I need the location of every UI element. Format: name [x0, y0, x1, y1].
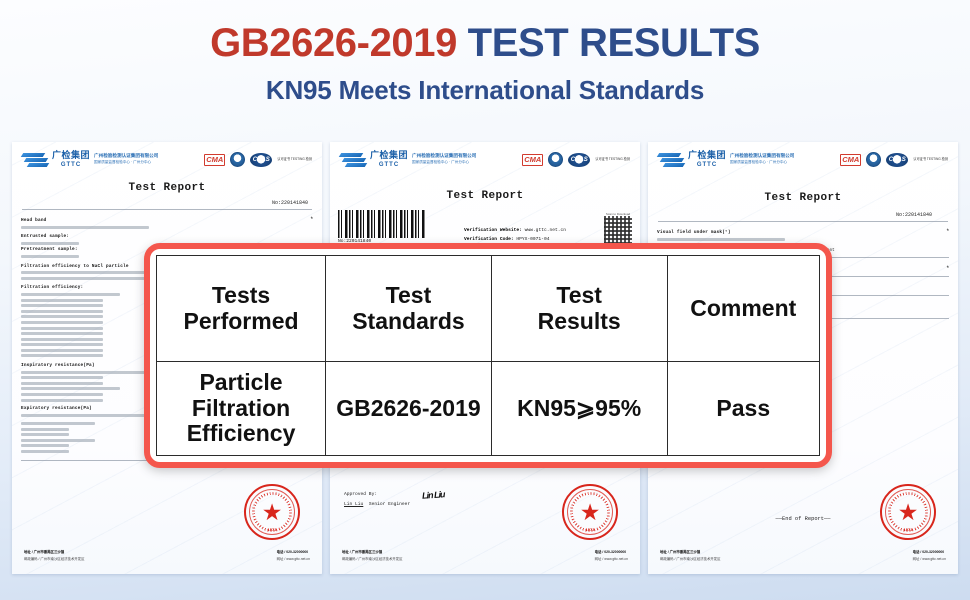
badge-note: 认可证书 TESTING 检测 — [595, 157, 630, 162]
cnas-badge-icon: CNAS — [886, 153, 908, 167]
footer-address-2: 邮政编码 / 广州市南沙区经济技术开发区 — [660, 556, 720, 562]
stamp-code: 1573 — [564, 527, 616, 532]
col-header-test-results: Test Results — [491, 256, 667, 362]
cal-badge-icon — [230, 152, 245, 167]
doc-footer-left: 地址 / 广州市番禺区三沙镇 邮政编码 / 广州市南沙区经济技术开发区 电话 /… — [24, 549, 310, 562]
table-header-row: Tests Performed Test Standards Test Resu… — [157, 256, 820, 362]
approver-name: Lin Liu — [344, 502, 363, 507]
doc-report-no-right: No:220141840 — [648, 212, 958, 218]
verification-website-label: Verification Website: — [464, 228, 522, 233]
doc-title-left: Test Report — [12, 182, 322, 194]
gt-logo-icon — [658, 151, 684, 168]
results-table-callout: Tests Performed Test Standards Test Resu… — [144, 243, 832, 468]
barcode-icon — [338, 210, 426, 238]
company-name-sub: 国家质量监督检验中心 · 广州分中心 — [94, 160, 151, 164]
brand-name-cn: 广检集团 — [688, 151, 726, 160]
brand-name-cn: 广检集团 — [52, 151, 90, 160]
brand-name-cn: 广检集团 — [370, 151, 408, 160]
footer-website: 网址 / www.gttc.net.cn — [595, 556, 628, 562]
page-title: GB2626-2019 TEST RESULTS — [0, 22, 970, 64]
verification-website-value[interactable]: www.gttc.net.cn — [525, 228, 566, 233]
page-subtitle: KN95 Meets International Standards — [0, 75, 970, 106]
doc-footer-middle: 地址 / 广州市番禺区三沙镇 邮政编码 / 广州市南沙区经济技术开发区 电话 /… — [342, 549, 628, 562]
barcode-row: No:220141840 Verification Website: www.g… — [330, 210, 640, 244]
cal-badge-icon — [548, 152, 563, 167]
footer-address: 地址 / 广州市番禺区三沙镇 — [24, 550, 64, 554]
badge-note: 认可证书 TESTING 检测 — [277, 157, 312, 162]
footer-website: 网址 / www.gttc.net.cn — [913, 556, 946, 562]
doc-header-middle: 广检集团 GTTC 广州检验检测认证集团有限公司 国家质量监督检验中心 · 广州… — [330, 142, 640, 168]
footer-address-2: 邮政编码 / 广州市南沙区经济技术开发区 — [342, 556, 402, 562]
official-stamp: ★ 1573 — [244, 484, 300, 540]
barcode-block: No:220141840 — [338, 210, 426, 244]
brand-name-en: GTTC — [52, 162, 90, 168]
cma-badge-icon: CMA — [204, 154, 225, 166]
page-title-standard: GB2626-2019 — [210, 21, 457, 65]
official-stamp: ★ 1573 — [880, 484, 936, 540]
footer-address: 地址 / 广州市番禺区三沙镇 — [660, 550, 700, 554]
official-stamp: ★ 1573 — [562, 484, 618, 540]
accreditation-badges: CMA CNAS 认可证书 TESTING 检测 — [204, 152, 312, 167]
footer-website: 网址 / www.gttc.net.cn — [277, 556, 310, 562]
doc-report-no-left: No:220141840 — [12, 200, 322, 206]
col-header-tests-performed: Tests Performed — [157, 256, 326, 362]
cell-comment: Pass — [667, 362, 820, 456]
accreditation-badges: CMA CNAS 认可证书 TESTING 检测 — [522, 152, 630, 167]
verification-code-label: Verification Code: — [464, 237, 514, 242]
qr-code-icon[interactable] — [604, 216, 632, 244]
doc-header-left: 广检集团 GTTC 广州检验检测认证集团有限公司 国家质量监督检验中心 · 广州… — [12, 142, 322, 168]
badge-note: 认可证书 TESTING 检测 — [913, 157, 948, 162]
company-name: 广州检验检测认证集团有限公司 国家质量监督检验中心 · 广州分中心 — [94, 153, 158, 165]
gttc-logo: 广检集团 GTTC 广州检验检测认证集团有限公司 国家质量监督检验中心 · 广州… — [22, 151, 158, 168]
results-table: Tests Performed Test Standards Test Resu… — [156, 255, 820, 456]
section-heading: Entrusted sample: — [21, 234, 313, 239]
stamp-code: 1573 — [246, 527, 298, 532]
doc-title-middle: Test Report — [330, 190, 640, 202]
cnas-badge-icon: CNAS — [250, 153, 272, 167]
brand-name-en: GTTC — [370, 162, 408, 168]
approved-label: Approved By: — [344, 490, 410, 500]
table-row: Particle Filtration Efficiency GB2626-20… — [157, 362, 820, 456]
company-name-sub: 国家质量监督检验中心 · 广州分中心 — [412, 160, 469, 164]
cell-test-performed: Particle Filtration Efficiency — [157, 362, 326, 456]
footer-address-2: 邮政编码 / 广州市南沙区经济技术开发区 — [24, 556, 84, 562]
gt-logo-icon — [22, 151, 48, 168]
footer-phone: 电话 / 020-32000000 — [595, 550, 626, 554]
qr-block: Scan to Download — [604, 212, 632, 244]
stamp-code: 1573 — [882, 527, 934, 532]
page-title-suffix: TEST RESULTS — [468, 21, 760, 65]
col-header-comment: Comment — [667, 256, 820, 362]
approver-title: Senior Engineer — [369, 502, 410, 507]
footer-phone: 电话 / 020-32000000 — [277, 550, 308, 554]
signature: Lin Liu — [422, 489, 445, 501]
doc-header-right: 广检集团 GTTC 广州检验检测认证集团有限公司 国家质量监督检验中心 · 广州… — [648, 142, 958, 168]
gt-logo-icon — [340, 151, 366, 168]
cma-badge-icon: CMA — [522, 154, 543, 166]
company-name-sub: 国家质量监督检验中心 · 广州分中心 — [730, 160, 787, 164]
footer-phone: 电话 / 020-32000000 — [913, 550, 944, 554]
footer-address: 地址 / 广州市番禺区三沙镇 — [342, 550, 382, 554]
brand-name-en: GTTC — [688, 162, 726, 168]
cell-test-result: KN95⩾95% — [491, 362, 667, 456]
doc-footer-right: 地址 / 广州市番禺区三沙镇 邮政编码 / 广州市南沙区经济技术开发区 电话 /… — [660, 549, 946, 562]
cell-test-standard: GB2626-2019 — [326, 362, 492, 456]
approved-block: Approved By: Lin Liu Senior Engineer — [344, 490, 410, 510]
company-name: 广州检验检测认证集团有限公司 国家质量监督检验中心 · 广州分中心 — [412, 153, 476, 165]
doc-title-right: Test Report — [648, 192, 958, 204]
accreditation-badges: CMA CNAS 认可证书 TESTING 检测 — [840, 152, 948, 167]
gttc-logo: 广检集团 GTTC 广州检验检测认证集团有限公司 国家质量监督检验中心 · 广州… — [340, 151, 476, 168]
company-name: 广州检验检测认证集团有限公司 国家质量监督检验中心 · 广州分中心 — [730, 153, 794, 165]
verification-code-value: HPYX-0071-04 — [516, 237, 549, 242]
verification-info: Verification Website: www.gttc.net.cn Ve… — [464, 226, 566, 244]
page-header: GB2626-2019 TEST RESULTS KN95 Meets Inte… — [0, 0, 970, 106]
cnas-badge-icon: CNAS — [568, 153, 590, 167]
cma-badge-icon: CMA — [840, 154, 861, 166]
cal-badge-icon — [866, 152, 881, 167]
gttc-logo: 广检集团 GTTC 广州检验检测认证集团有限公司 国家质量监督检验中心 · 广州… — [658, 151, 794, 168]
col-header-test-standards: Test Standards — [326, 256, 492, 362]
